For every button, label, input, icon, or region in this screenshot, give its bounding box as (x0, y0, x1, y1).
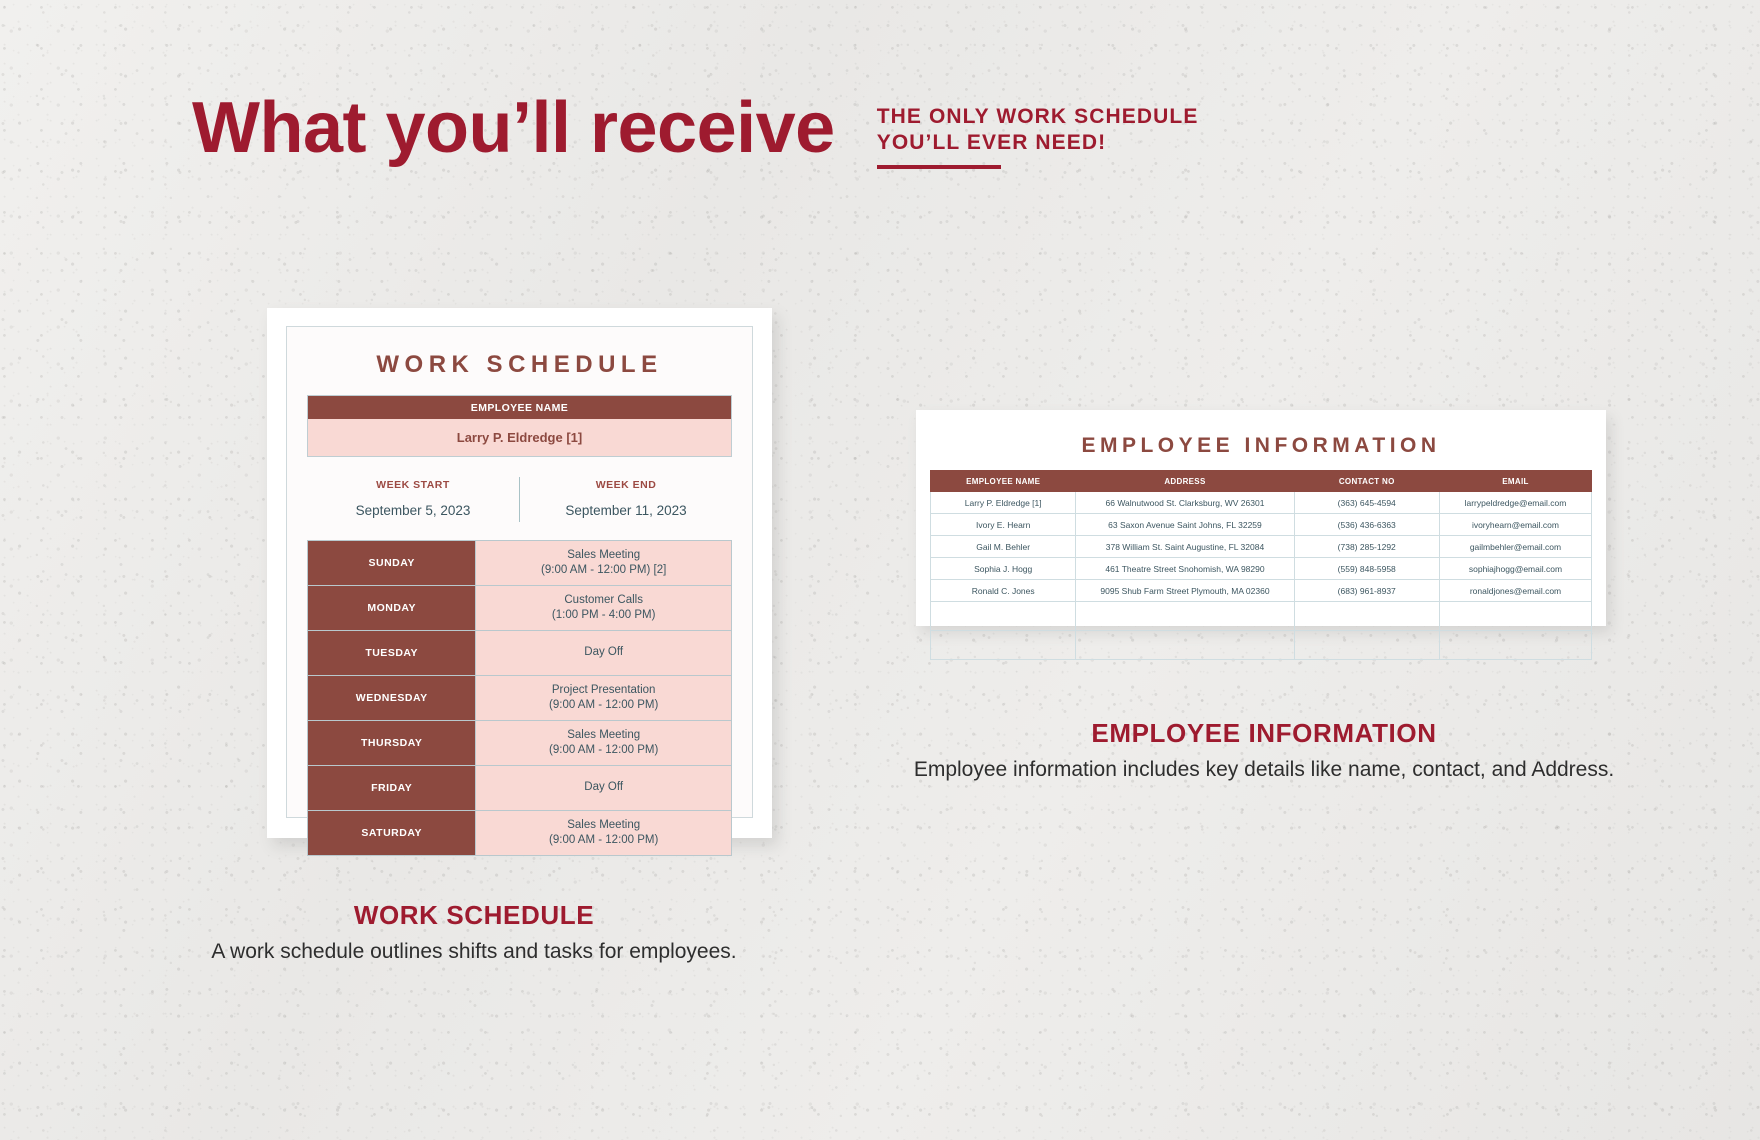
schedule-task-cell: Project Presentation(9:00 AM - 12:00 PM) (476, 676, 732, 721)
schedule-task-time: (9:00 AM - 12:00 PM) (482, 743, 725, 758)
work-schedule-sheet: WORK SCHEDULE EMPLOYEE NAME Larry P. Eld… (286, 326, 753, 818)
schedule-task-time: (9:00 AM - 12:00 PM) [2] (482, 563, 725, 578)
cell-empty (1439, 631, 1591, 660)
table-row: Ronald C. Jones9095 Shub Farm Street Ply… (931, 580, 1592, 602)
cell-email: gailmbehler@email.com (1439, 536, 1591, 558)
cell-email: larrypeldredge@email.com (1439, 492, 1591, 514)
schedule-task-time: (9:00 AM - 12:00 PM) (482, 833, 725, 848)
schedule-day-cell: SUNDAY (308, 541, 476, 586)
schedule-task-cell: Sales Meeting(9:00 AM - 12:00 PM) (476, 721, 732, 766)
week-start-cell: WEEK START September 5, 2023 (307, 477, 519, 522)
schedule-row: TUESDAYDay Off (308, 631, 732, 676)
schedule-day-cell: TUESDAY (308, 631, 476, 676)
subtitle-line-1: THE ONLY WORK SCHEDULE (877, 104, 1199, 130)
cell-address: 9095 Shub Farm Street Plymouth, MA 02360 (1076, 580, 1294, 602)
cell-name: Ronald C. Jones (931, 580, 1076, 602)
work-schedule-title: WORK SCHEDULE (307, 351, 732, 379)
column-header: EMPLOYEE NAME (931, 471, 1076, 492)
schedule-table: SUNDAYSales Meeting(9:00 AM - 12:00 PM) … (307, 540, 732, 856)
work-schedule-card: WORK SCHEDULE EMPLOYEE NAME Larry P. Eld… (267, 308, 772, 838)
employee-information-card: EMPLOYEE INFORMATION EMPLOYEE NAMEADDRES… (916, 410, 1606, 626)
cell-empty (1076, 602, 1294, 631)
cell-email: ronaldjones@email.com (1439, 580, 1591, 602)
schedule-row: SATURDAYSales Meeting(9:00 AM - 12:00 PM… (308, 811, 732, 856)
week-end-cell: WEEK END September 11, 2023 (519, 477, 732, 522)
subtitle-line-2: YOU’LL EVER NEED! (877, 130, 1199, 156)
week-range-row: WEEK START September 5, 2023 WEEK END Se… (307, 477, 732, 522)
schedule-day-cell: SATURDAY (308, 811, 476, 856)
schedule-task-name: Project Presentation (482, 683, 725, 698)
cell-address: 378 William St. Saint Augustine, FL 3208… (1076, 536, 1294, 558)
cell-contact: (683) 961-8937 (1294, 580, 1439, 602)
schedule-task-name: Sales Meeting (482, 548, 725, 563)
schedule-row: WEDNESDAYProject Presentation(9:00 AM - … (308, 676, 732, 721)
schedule-task-cell: Customer Calls(1:00 PM - 4:00 PM) (476, 586, 732, 631)
employee-information-title: EMPLOYEE INFORMATION (930, 434, 1592, 458)
cell-address: 461 Theatre Street Snohomish, WA 98290 (1076, 558, 1294, 580)
subtitle-underline (877, 165, 1001, 169)
schedule-day-cell: MONDAY (308, 586, 476, 631)
caption-body: A work schedule outlines shifts and task… (182, 939, 766, 966)
caption-body: Employee information includes key detail… (884, 757, 1644, 784)
cell-email: sophiajhogg@email.com (1439, 558, 1591, 580)
schedule-row: SUNDAYSales Meeting(9:00 AM - 12:00 PM) … (308, 541, 732, 586)
schedule-task-time: (9:00 AM - 12:00 PM) (482, 698, 725, 713)
cell-contact: (738) 285-1292 (1294, 536, 1439, 558)
schedule-task-name: Sales Meeting (482, 818, 725, 833)
schedule-task-name: Sales Meeting (482, 728, 725, 743)
schedule-task-cell: Sales Meeting(9:00 AM - 12:00 PM) [2] (476, 541, 732, 586)
page-header: What you’ll receive THE ONLY WORK SCHEDU… (192, 92, 1198, 169)
table-row-empty (931, 602, 1592, 631)
cell-empty (1294, 602, 1439, 631)
column-header: ADDRESS (1076, 471, 1294, 492)
cell-empty (1439, 602, 1591, 631)
caption-title: EMPLOYEE INFORMATION (884, 718, 1644, 749)
cell-name: Ivory E. Hearn (931, 514, 1076, 536)
schedule-task-time: (1:00 PM - 4:00 PM) (482, 608, 725, 623)
schedule-day-cell: FRIDAY (308, 766, 476, 811)
schedule-task-name: Day Off (482, 645, 725, 660)
cell-empty (931, 602, 1076, 631)
schedule-row: THURSDAYSales Meeting(9:00 AM - 12:00 PM… (308, 721, 732, 766)
schedule-task-cell: Day Off (476, 631, 732, 676)
schedule-task-cell: Sales Meeting(9:00 AM - 12:00 PM) (476, 811, 732, 856)
page-title: What you’ll receive (192, 92, 835, 164)
cell-address: 63 Saxon Avenue Saint Johns, FL 32259 (1076, 514, 1294, 536)
table-row: Sophia J. Hogg461 Theatre Street Snohomi… (931, 558, 1592, 580)
week-end-value: September 11, 2023 (520, 503, 732, 518)
subtitle-block: THE ONLY WORK SCHEDULE YOU’LL EVER NEED! (877, 104, 1199, 169)
schedule-task-cell: Day Off (476, 766, 732, 811)
schedule-task-name: Customer Calls (482, 593, 725, 608)
caption-title: WORK SCHEDULE (182, 900, 766, 931)
week-start-label: WEEK START (307, 479, 519, 491)
cell-contact: (363) 645-4594 (1294, 492, 1439, 514)
cell-contact: (536) 436-6363 (1294, 514, 1439, 536)
cell-empty (931, 631, 1076, 660)
cell-name: Gail M. Behler (931, 536, 1076, 558)
cell-name: Sophia J. Hogg (931, 558, 1076, 580)
employee-name-header: EMPLOYEE NAME (307, 395, 732, 419)
column-header: CONTACT NO (1294, 471, 1439, 492)
table-header-row: EMPLOYEE NAMEADDRESSCONTACT NOEMAIL (931, 471, 1592, 492)
column-header: EMAIL (1439, 471, 1591, 492)
table-row: Larry P. Eldredge [1]66 Walnutwood St. C… (931, 492, 1592, 514)
table-row-empty (931, 631, 1592, 660)
table-row: Ivory E. Hearn63 Saxon Avenue Saint John… (931, 514, 1592, 536)
employee-information-caption: EMPLOYEE INFORMATION Employee informatio… (884, 718, 1644, 784)
table-row: Gail M. Behler378 William St. Saint Augu… (931, 536, 1592, 558)
schedule-row: MONDAYCustomer Calls(1:00 PM - 4:00 PM) (308, 586, 732, 631)
cell-contact: (559) 848-5958 (1294, 558, 1439, 580)
cell-name: Larry P. Eldredge [1] (931, 492, 1076, 514)
schedule-day-cell: WEDNESDAY (308, 676, 476, 721)
employee-information-table: EMPLOYEE NAMEADDRESSCONTACT NOEMAIL Larr… (930, 470, 1592, 660)
cell-address: 66 Walnutwood St. Clarksburg, WV 26301 (1076, 492, 1294, 514)
week-end-label: WEEK END (520, 479, 732, 491)
week-start-value: September 5, 2023 (307, 503, 519, 518)
cell-empty (1294, 631, 1439, 660)
work-schedule-caption: WORK SCHEDULE A work schedule outlines s… (182, 900, 766, 966)
employee-name-value: Larry P. Eldredge [1] (307, 419, 732, 457)
schedule-task-name: Day Off (482, 780, 725, 795)
cell-email: ivoryhearn@email.com (1439, 514, 1591, 536)
schedule-row: FRIDAYDay Off (308, 766, 732, 811)
cell-empty (1076, 631, 1294, 660)
schedule-day-cell: THURSDAY (308, 721, 476, 766)
